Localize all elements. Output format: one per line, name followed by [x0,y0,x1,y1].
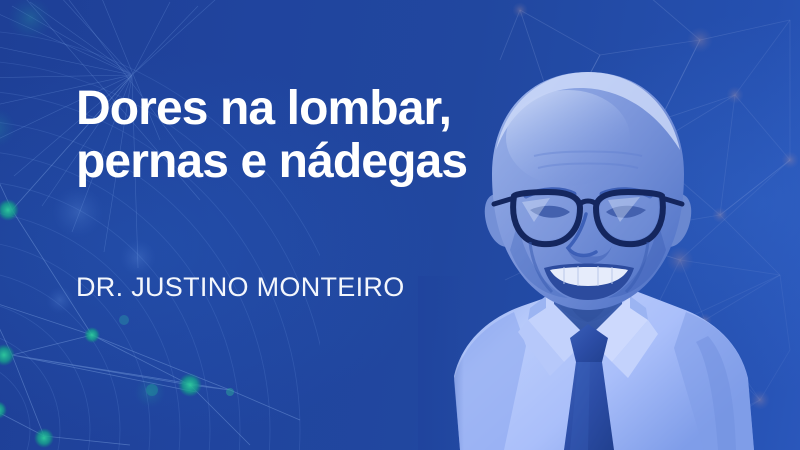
speaker-name: DR. JUSTINO MONTEIRO [76,272,405,302]
headline-line-2: pernas e nádegas [76,135,536,188]
headline-block: Dores na lombar, pernas e nádegas [76,82,536,188]
headline-line-1: Dores na lombar, [76,82,536,135]
video-thumbnail-banner: Dores na lombar, pernas e nádegas DR. JU… [0,0,800,450]
